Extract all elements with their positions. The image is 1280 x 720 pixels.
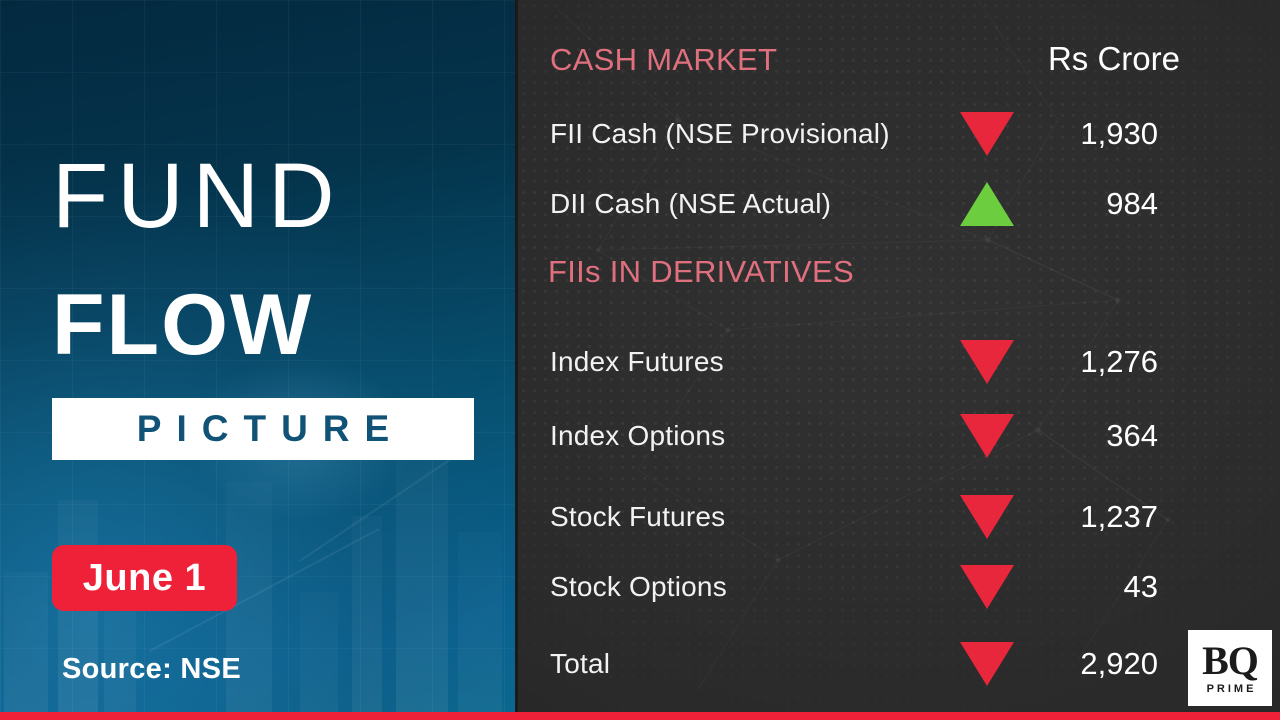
arrow-down-icon <box>960 414 1014 458</box>
table-row: Index Options 364 <box>518 406 1280 466</box>
source-label: Source: NSE <box>62 653 241 686</box>
row-value: 984 <box>1106 186 1158 222</box>
row-value: 2,920 <box>1080 646 1158 682</box>
arrow-down-icon <box>960 340 1014 384</box>
table-row: Stock Options 43 <box>518 557 1280 617</box>
section-header-cash-market: CASH MARKET <box>550 42 777 78</box>
table-row: FII Cash (NSE Provisional) 1,930 <box>518 104 1280 164</box>
figures-list: CASH MARKET Rs Crore FII Cash (NSE Provi… <box>518 0 1280 712</box>
arrow-up-icon <box>960 182 1014 226</box>
row-label: Total <box>550 648 610 680</box>
row-label: Index Options <box>550 420 725 452</box>
table-row: Stock Futures 1,237 <box>518 487 1280 547</box>
unit-header: Rs Crore <box>1048 40 1180 78</box>
fund-flow-picture-graphic: FUND FLOW PICTURE June 1 Source: NSE <box>0 0 1280 720</box>
brand-panel: FUND FLOW PICTURE June 1 Source: NSE <box>0 0 518 712</box>
table-row: Index Futures 1,276 <box>518 332 1280 392</box>
row-label: Stock Options <box>550 571 727 603</box>
section-header-fiis-derivatives: FIIs IN DERIVATIVES <box>548 254 854 290</box>
row-value: 43 <box>1124 569 1158 605</box>
row-value: 1,930 <box>1080 116 1158 152</box>
row-value: 1,276 <box>1080 344 1158 380</box>
row-label: DII Cash (NSE Actual) <box>550 188 831 220</box>
arrow-down-icon <box>960 112 1014 156</box>
logo-subtitle: PRIME <box>1204 683 1257 695</box>
date-badge-label: June 1 <box>83 557 206 600</box>
row-label: Stock Futures <box>550 501 725 533</box>
table-row: Total 2,920 <box>518 634 1280 694</box>
arrow-down-icon <box>960 642 1014 686</box>
bq-prime-logo: BQ PRIME <box>1188 630 1272 706</box>
row-label: Index Futures <box>550 346 724 378</box>
arrow-down-icon <box>960 565 1014 609</box>
date-badge: June 1 <box>52 545 237 611</box>
brand-word-picture: PICTURE <box>122 408 404 450</box>
bottom-accent-bar <box>0 712 1280 720</box>
logo-wordmark: BQ <box>1202 641 1258 681</box>
brand-word-flow: FLOW <box>52 282 313 368</box>
row-value: 364 <box>1106 418 1158 454</box>
row-value: 1,237 <box>1080 499 1158 535</box>
row-label: FII Cash (NSE Provisional) <box>550 118 890 150</box>
data-panel: CASH MARKET Rs Crore FII Cash (NSE Provi… <box>518 0 1280 712</box>
panel-divider <box>515 0 518 712</box>
brand-word-fund: FUND <box>52 150 344 242</box>
brand-picture-box: PICTURE <box>52 398 474 460</box>
table-row: DII Cash (NSE Actual) 984 <box>518 174 1280 234</box>
arrow-down-icon <box>960 495 1014 539</box>
